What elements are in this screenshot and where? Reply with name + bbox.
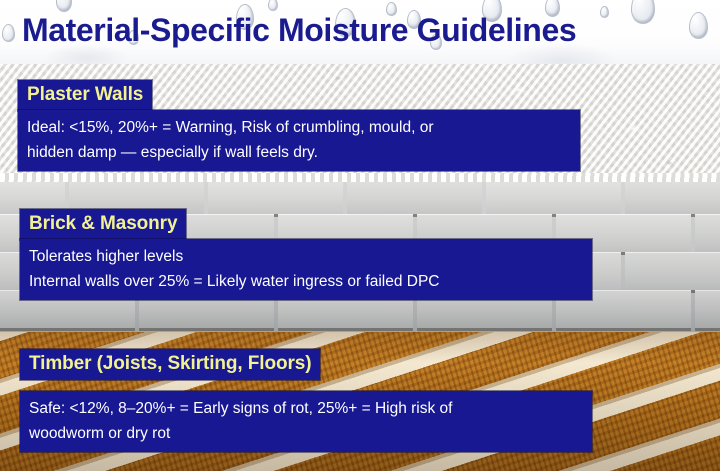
body-line: hidden damp — especially if wall feels d… <box>27 140 570 165</box>
section-body-plaster: Ideal: <15%, 20%+ = Warning, Risk of cru… <box>18 110 580 171</box>
body-line: Safe: <12%, 8–20%+ = Early signs of rot,… <box>29 396 582 421</box>
body-line: Internal walls over 25% = Likely water i… <box>29 269 582 294</box>
water-droplet-icon <box>268 0 278 11</box>
section-heading-plaster: Plaster Walls <box>18 80 152 111</box>
brick <box>486 182 621 217</box>
water-droplet-icon <box>56 0 72 12</box>
section-heading-brick: Brick & Masonry <box>20 209 186 240</box>
brick <box>208 182 343 217</box>
body-line: Ideal: <15%, 20%+ = Warning, Risk of cru… <box>27 115 570 140</box>
section-body-timber: Safe: <12%, 8–20%+ = Early signs of rot,… <box>20 391 592 452</box>
body-line: woodworm or dry rot <box>29 421 582 446</box>
brick <box>695 214 720 255</box>
brick <box>347 182 482 217</box>
water-droplet-icon <box>689 12 708 39</box>
infographic-canvas: Material-Specific Moisture Guidelines Pl… <box>0 0 720 471</box>
brick <box>695 290 720 331</box>
brick <box>625 252 720 293</box>
brick <box>625 182 720 217</box>
section-body-brick: Tolerates higher levels Internal walls o… <box>20 239 592 300</box>
section-heading-timber: Timber (Joists, Skirting, Floors) <box>20 349 320 380</box>
page-title: Material-Specific Moisture Guidelines <box>22 12 576 49</box>
water-droplet-icon <box>2 24 15 42</box>
water-droplet-icon <box>631 0 655 24</box>
water-droplet-icon <box>600 6 609 18</box>
plaster-bottom-edge <box>0 173 720 182</box>
body-line: Tolerates higher levels <box>29 244 582 269</box>
